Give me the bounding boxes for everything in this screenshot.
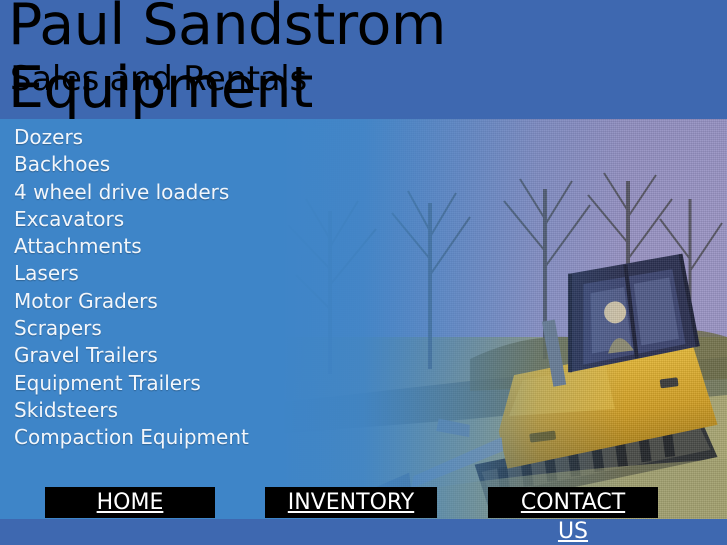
list-item: Dozers [0,124,249,151]
nav-label-contact-line2-wrap: US [488,518,658,545]
list-item: Attachments [0,233,249,260]
list-item: Skidsteers [0,397,249,424]
nav-label-contact-line2: US [558,519,588,544]
nav-button-home[interactable]: HOME [45,487,215,518]
list-item: Motor Graders [0,288,249,315]
nav-label-contact-line1: CONTACT [521,490,625,515]
list-item: Compaction Equipment [0,424,249,451]
nav-label-home: HOME [97,490,164,515]
list-item: Scrapers [0,315,249,342]
page-root: Paul Sandstrom Equipment Sales and Renta… [0,0,727,545]
list-item: Lasers [0,260,249,287]
nav-button-contact-us[interactable]: CONTACT US [488,487,658,518]
list-item: Excavators [0,206,249,233]
list-item: Gravel Trailers [0,342,249,369]
page-title: Paul Sandstrom Equipment [8,0,727,120]
list-item: Equipment Trailers [0,370,249,397]
equipment-category-list: Dozers Backhoes 4 wheel drive loaders Ex… [0,124,249,452]
list-item: Backhoes [0,151,249,178]
page-subtitle: Sales and Rentals [10,60,307,98]
main-navigation: HOME INVENTORY CONTACT US [0,487,727,545]
nav-label-inventory: INVENTORY [288,490,414,515]
nav-button-inventory[interactable]: INVENTORY [265,487,437,518]
list-item: 4 wheel drive loaders [0,179,249,206]
